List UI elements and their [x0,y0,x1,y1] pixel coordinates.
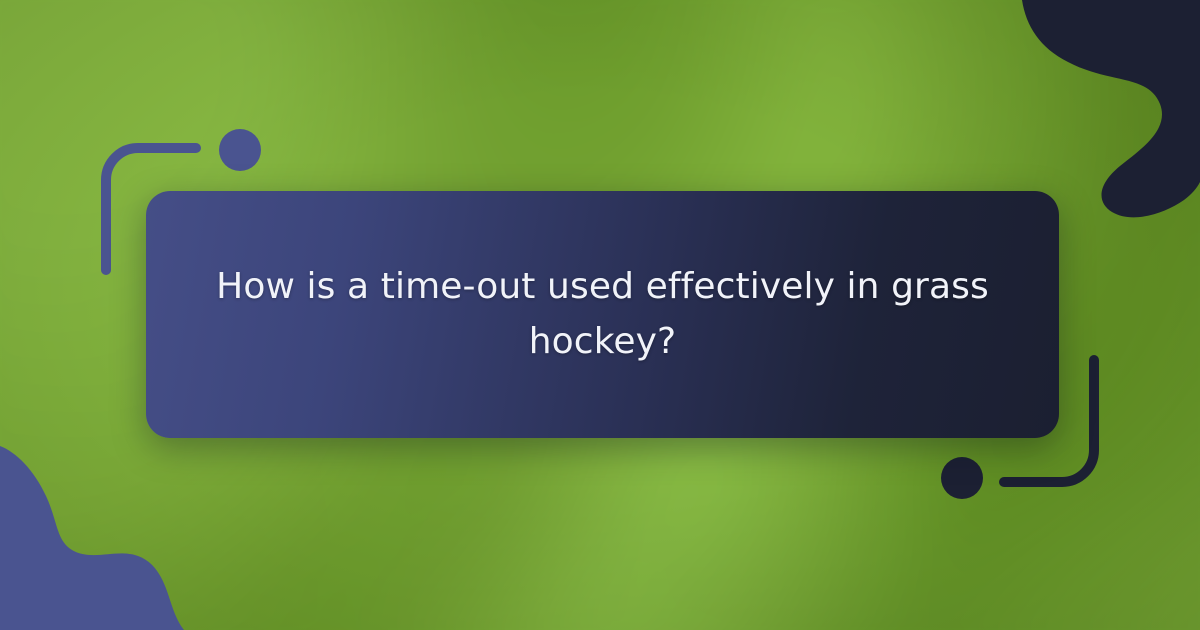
bottom-right-dot-icon [941,457,983,499]
bottom-left-blob-shape [0,446,184,630]
question-card-graphic: How is a time-out used effectively in gr… [0,0,1200,630]
question-text: How is a time-out used effectively in gr… [208,260,997,369]
top-left-dot-icon [219,129,261,171]
question-card: How is a time-out used effectively in gr… [146,191,1059,438]
top-right-blob-shape [1022,0,1200,217]
